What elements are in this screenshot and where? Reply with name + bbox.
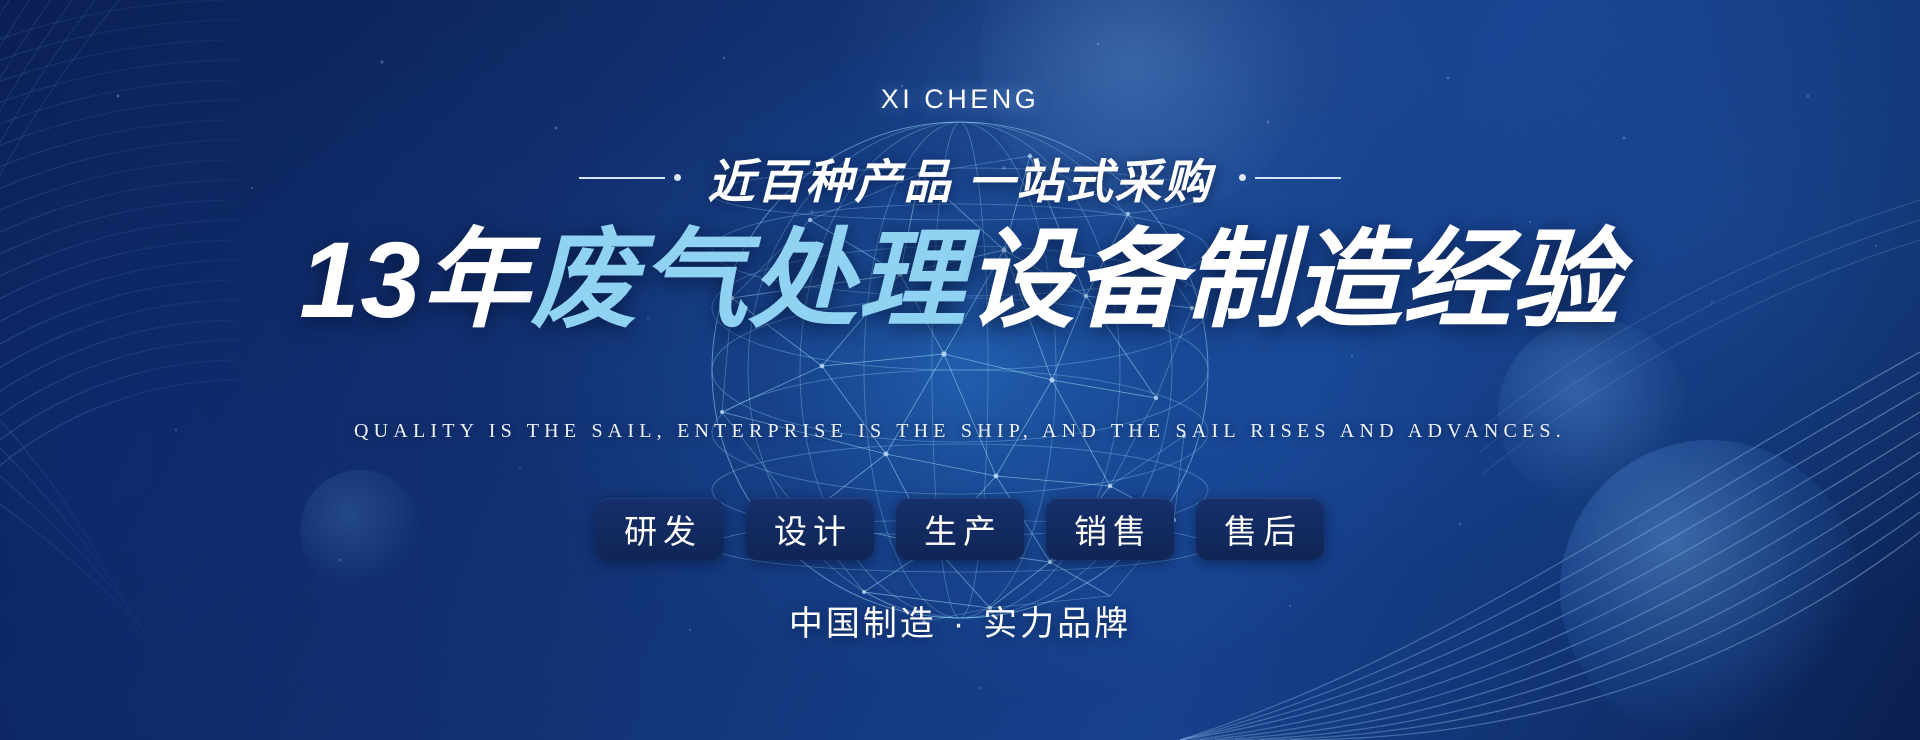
- headline: 13年废气处理设备制造经验: [0, 222, 1920, 339]
- service-pill-rd[interactable]: 研发: [596, 498, 724, 560]
- ornament-line-icon: [1255, 177, 1341, 179]
- banner-content: XI CHENG 近百种产品 一站式采购 13年废气处理设备制造经验 QUALI…: [0, 0, 1920, 740]
- ornament-left: [579, 174, 681, 181]
- footer-separator-icon: ·: [937, 605, 983, 643]
- service-pill-design[interactable]: 设计: [746, 498, 874, 560]
- ornament-right: [1239, 174, 1341, 181]
- footer-left-text: 中国制造: [789, 605, 937, 643]
- ornament-dot-icon: [674, 174, 681, 181]
- footer-right-text: 实力品牌: [983, 605, 1131, 643]
- headline-accent: 废气处理: [531, 219, 967, 340]
- subline-text: 近百种产品 一站式采购: [707, 143, 1212, 212]
- service-pill-list: 研发 设计 生产 销售 售后: [0, 498, 1920, 560]
- hero-banner: XI CHENG 近百种产品 一站式采购 13年废气处理设备制造经验 QUALI…: [0, 0, 1920, 740]
- english-tagline: QUALITY IS THE SAIL, ENTERPRISE IS THE S…: [0, 420, 1920, 443]
- subline-row: 近百种产品 一站式采购: [0, 143, 1920, 212]
- ornament-line-icon: [579, 177, 665, 179]
- brand-name: XI CHENG: [0, 84, 1920, 115]
- service-pill-sales[interactable]: 销售: [1046, 498, 1174, 560]
- footer-line: 中国制造·实力品牌: [0, 596, 1920, 645]
- service-pill-aftersales[interactable]: 售后: [1196, 498, 1324, 560]
- service-pill-production[interactable]: 生产: [896, 498, 1024, 560]
- headline-suffix: 设备制造经验: [967, 219, 1621, 340]
- ornament-dot-icon: [1239, 174, 1246, 181]
- headline-prefix: 13年: [299, 219, 530, 340]
